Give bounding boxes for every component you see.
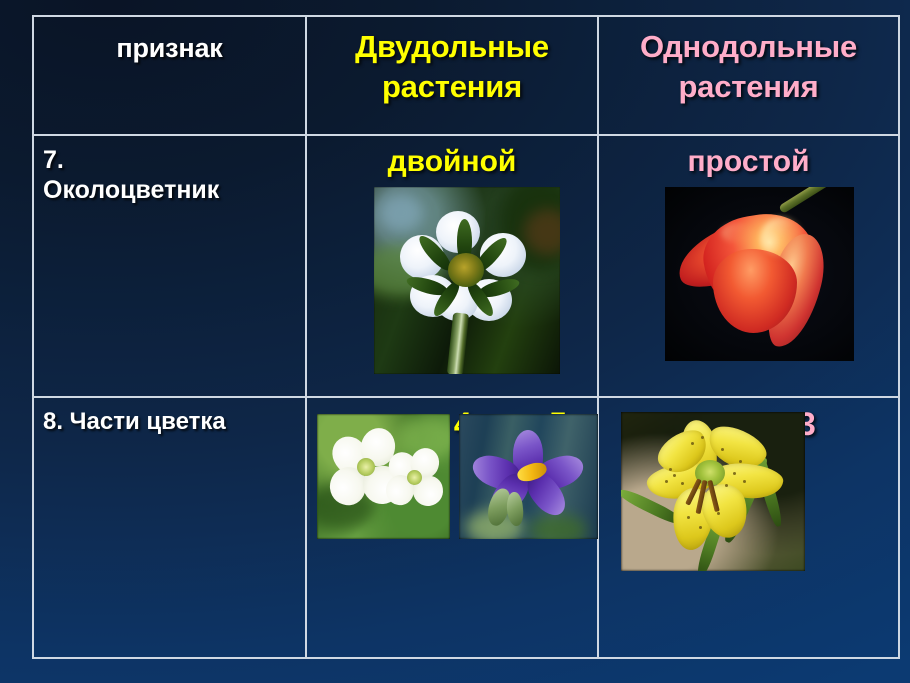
row-label-perianth-line2: Околоцветник — [43, 176, 305, 206]
cell-feature-perianth: 7. Околоцветник — [33, 135, 306, 397]
comparison-table: признак Двудольные растения Однодольные … — [32, 15, 900, 659]
white-flower-back-view-photo — [374, 187, 560, 374]
row-label-perianth-line1: 7. — [43, 146, 305, 176]
header-label-monocot: Однодольные растения — [599, 17, 898, 106]
cell-feature-parts: 8. Части цветка — [33, 397, 306, 658]
white-crucifer-flower-photo — [317, 414, 450, 539]
row-label-parts-line1: 8. Части цветка — [43, 408, 305, 436]
header-label-dicot-line2: растения — [307, 67, 597, 107]
value-dicot-perianth: двойной — [307, 136, 597, 178]
red-tulip-photo — [665, 187, 854, 361]
header-label-monocot-line1: Однодольные — [599, 27, 898, 67]
value-monocot-perianth: простой — [599, 136, 898, 178]
header-cell-monocot: Однодольные растения — [598, 16, 899, 135]
header-label-feature: признак — [34, 17, 305, 66]
yellow-lily-photo — [621, 412, 805, 571]
cell-monocot-parts: кратно 3 — [598, 397, 899, 658]
header-label-monocot-line2: растения — [599, 67, 898, 107]
slide-canvas: признак Двудольные растения Однодольные … — [0, 0, 910, 683]
table-row: 8. Части цветка кратно 4 или 5 — [33, 397, 899, 658]
header-cell-dicot: Двудольные растения — [306, 16, 598, 135]
cell-dicot-parts: кратно 4 или 5 — [306, 397, 598, 658]
table-header-row: признак Двудольные растения Однодольные … — [33, 16, 899, 135]
table-row: 7. Околоцветник двойной — [33, 135, 899, 397]
row-label-perianth: 7. Околоцветник — [34, 136, 305, 205]
header-cell-feature: признак — [33, 16, 306, 135]
purple-solanum-flower-photo — [459, 414, 598, 539]
cell-dicot-perianth: двойной — [306, 135, 598, 397]
row-label-parts: 8. Части цветка — [34, 398, 305, 436]
cell-monocot-perianth: простой — [598, 135, 899, 397]
header-label-dicot: Двудольные растения — [307, 17, 597, 106]
header-label-dicot-line1: Двудольные — [307, 27, 597, 67]
